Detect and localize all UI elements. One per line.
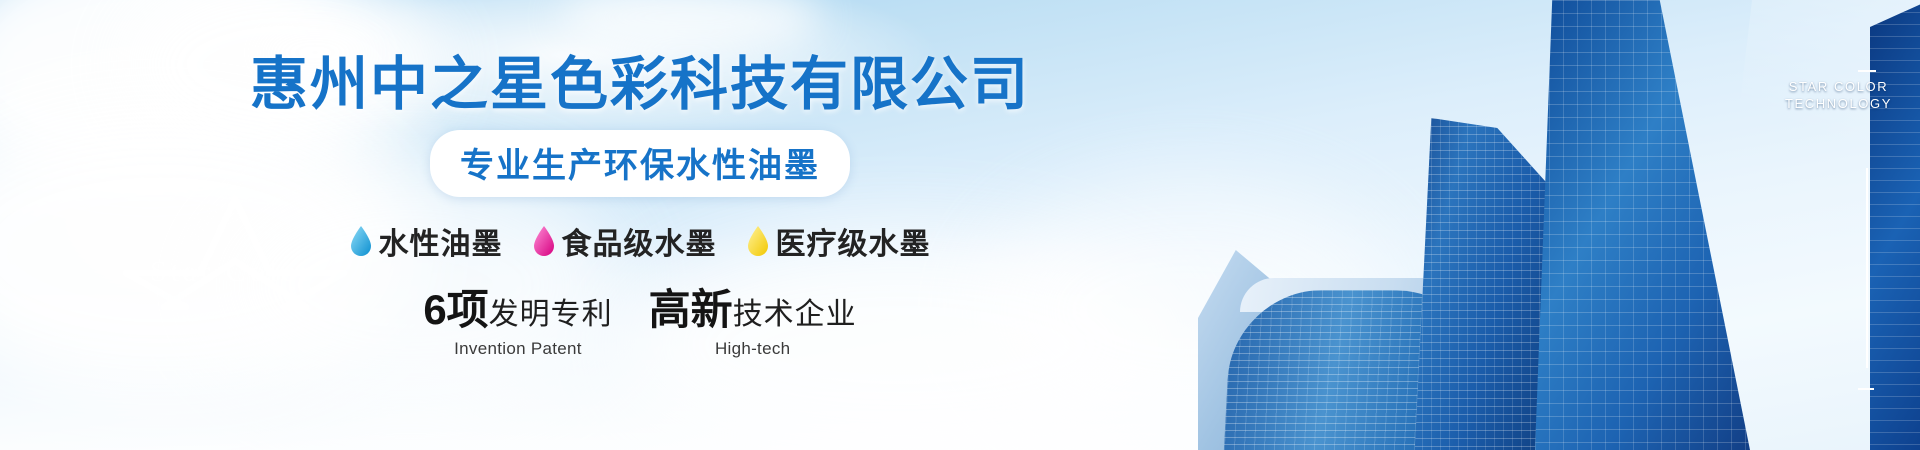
credential-english: High-tech xyxy=(649,339,857,359)
water-drop-icon xyxy=(533,226,555,256)
feature-item: 水性油墨 xyxy=(350,219,503,263)
credential-english: Invention Patent xyxy=(423,339,612,359)
feature-item: 医疗级水墨 xyxy=(747,219,931,263)
subtitle-text: 专业生产环保水性油墨 xyxy=(460,147,820,185)
credential-weak: 技术企业 xyxy=(733,298,857,331)
credential-list: 6项发明专利 Invention Patent 高新技术企业 High-tech xyxy=(423,289,856,359)
city-brand-label: STAR COLOR TECHNOLOGY xyxy=(1785,78,1892,112)
credential-chinese: 6项发明专利 xyxy=(423,289,612,331)
city-brand-line-1: STAR COLOR xyxy=(1785,78,1892,95)
water-drop-icon xyxy=(350,226,372,256)
feature-item: 食品级水墨 xyxy=(533,219,717,263)
city-skyline-image: STAR COLOR TECHNOLOGY xyxy=(1180,0,1920,450)
accent-rule-top xyxy=(1858,70,1876,72)
company-title: 惠州中之星色彩科技有限公司 xyxy=(250,56,1030,114)
credential-item: 高新技术企业 High-tech xyxy=(649,289,857,359)
credential-item: 6项发明专利 Invention Patent xyxy=(423,289,612,359)
subtitle-badge: 专业生产环保水性油墨 xyxy=(430,130,850,197)
credential-weak: 发明专利 xyxy=(489,298,613,331)
feature-label: 医疗级水墨 xyxy=(776,219,931,263)
city-brand-line-2: TECHNOLOGY xyxy=(1785,95,1892,112)
credential-chinese: 高新技术企业 xyxy=(649,289,857,331)
water-drop-icon xyxy=(747,226,769,256)
credential-strong: 高新 xyxy=(649,286,733,333)
credential-strong: 6项 xyxy=(423,286,488,333)
accent-rule-bottom xyxy=(1858,388,1874,390)
building-far-right xyxy=(1870,0,1920,450)
accent-rule-vertical xyxy=(1866,168,1868,368)
feature-list: 水性油墨 食品级水墨 医疗级水墨 xyxy=(350,219,931,263)
banner-content: 惠州中之星色彩科技有限公司 专业生产环保水性油墨 水性油墨 xyxy=(0,0,1280,450)
feature-label: 水性油墨 xyxy=(379,219,503,263)
feature-label: 食品级水墨 xyxy=(562,219,717,263)
promotional-banner: Star Color STAR COLOR TECHNOLOGY 惠州中之星色彩… xyxy=(0,0,1920,450)
